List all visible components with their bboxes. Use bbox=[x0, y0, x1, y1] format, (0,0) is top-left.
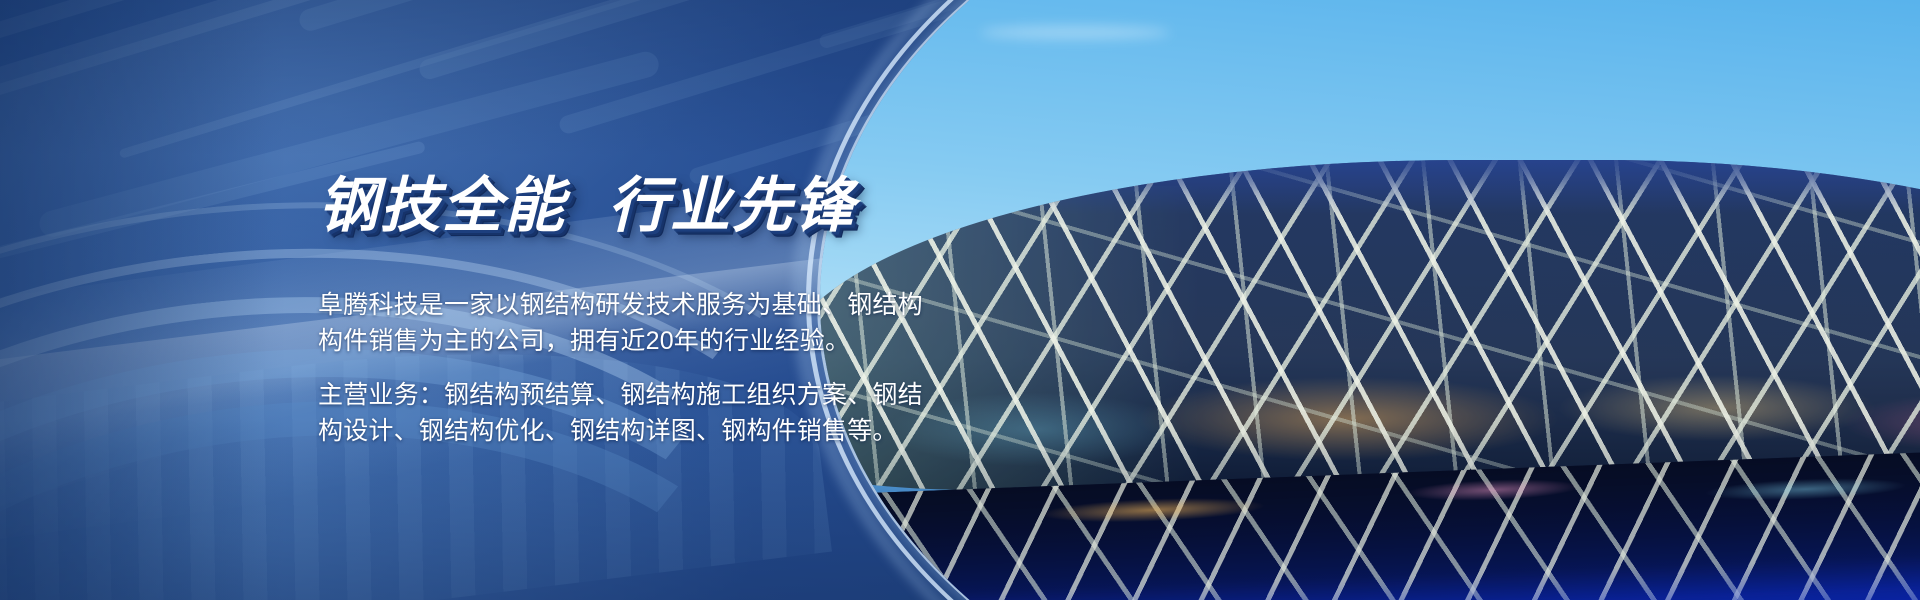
banner-headline: 钢技全能行业先锋 bbox=[318, 176, 856, 236]
banner-paragraph-1: 阜腾科技是一家以钢结构研发技术服务为基础、钢结构 构件销售为主的公司，拥有近20… bbox=[318, 288, 923, 359]
banner-content: 钢技全能行业先锋 阜腾科技是一家以钢结构研发技术服务为基础、钢结构 构件销售为主… bbox=[0, 0, 1000, 600]
hero-banner: 钢技全能行业先锋 阜腾科技是一家以钢结构研发技术服务为基础、钢结构 构件销售为主… bbox=[0, 0, 1920, 600]
cloud-3 bbox=[980, 26, 1170, 39]
banner-paragraph-2: 主营业务：钢结构预结算、钢结构施工组织方案、钢结 构设计、钢结构优化、钢结构详图… bbox=[318, 378, 923, 449]
headline-part-1: 钢技全能 bbox=[318, 172, 566, 239]
headline-part-2: 行业先锋 bbox=[608, 172, 856, 239]
